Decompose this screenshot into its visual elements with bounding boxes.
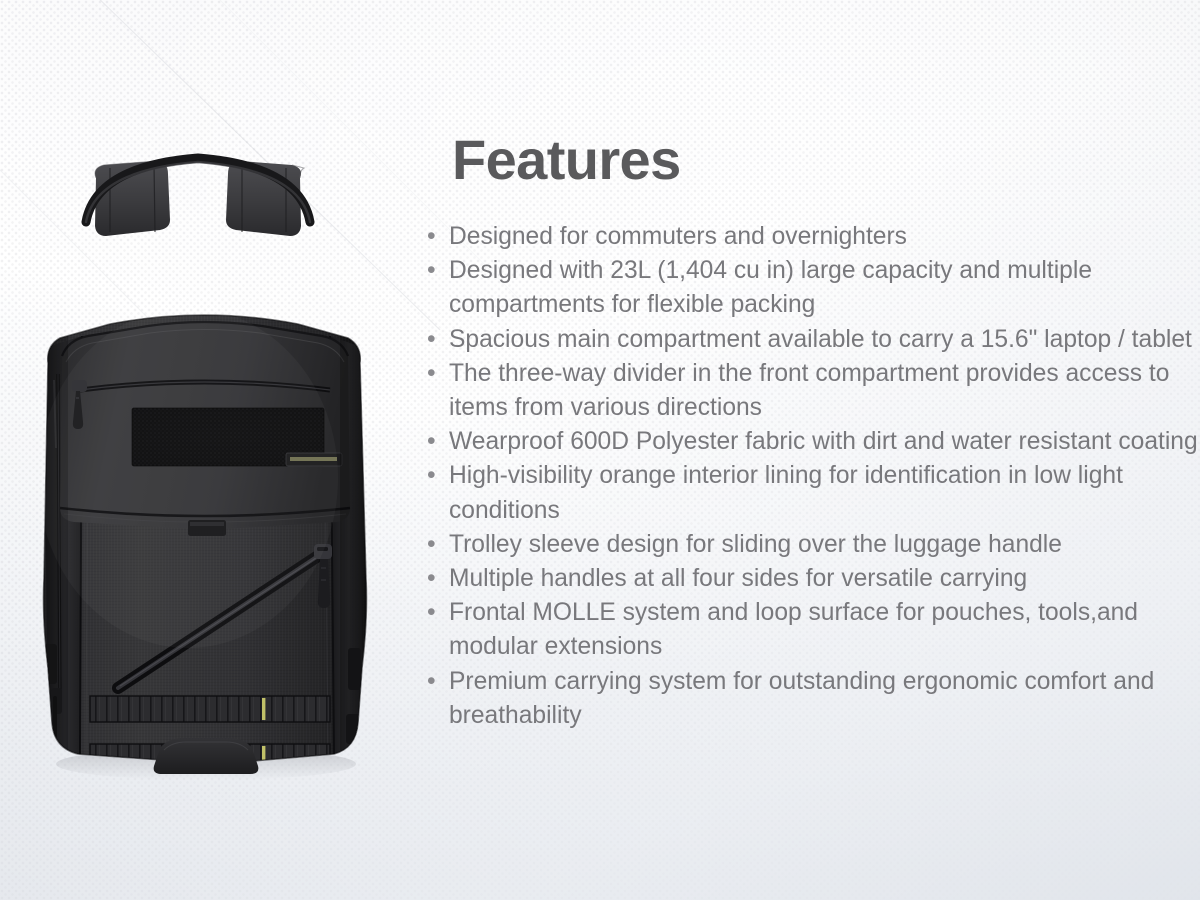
feature-text: Trolley sleeve design for sliding over t…	[449, 528, 1200, 562]
feature-item-10: • Premium carrying system for outstandin…	[424, 665, 1200, 733]
feature-item-4: • The three-way divider in the front com…	[424, 357, 1200, 425]
feature-item-2: • Designed with 23L (1,404 cu in) large …	[424, 254, 1200, 322]
feature-item-8: • Multiple handles at all four sides for…	[424, 562, 1200, 596]
feature-text: Premium carrying system for outstanding …	[449, 665, 1200, 733]
feature-text: Spacious main compartment available to c…	[449, 323, 1200, 357]
bullet-glyph: •	[427, 357, 436, 391]
slide-canvas: Features • Designed for commuters and ov…	[0, 0, 1200, 900]
bullet-glyph: •	[427, 323, 436, 357]
bullet-glyph: •	[427, 254, 436, 288]
bullet-glyph: •	[427, 459, 436, 493]
bullet-glyph: •	[427, 562, 436, 596]
backpack-body	[18, 298, 390, 780]
product-image-backpack	[18, 148, 390, 780]
feature-item-7: • Trolley sleeve design for sliding over…	[424, 528, 1200, 562]
page-title: Features	[452, 131, 681, 188]
bullet-glyph: •	[427, 425, 436, 459]
feature-text: The three-way divider in the front compa…	[449, 357, 1200, 425]
feature-item-1: • Designed for commuters and overnighter…	[424, 220, 1200, 254]
feature-item-9: • Frontal MOLLE system and loop surface …	[424, 596, 1200, 664]
feature-text: Wearproof 600D Polyester fabric with dir…	[449, 425, 1200, 459]
feature-item-6: • High-visibility orange interior lining…	[424, 459, 1200, 527]
bullet-glyph: •	[427, 220, 436, 254]
bottom-carry-handle	[154, 738, 259, 774]
feature-text: Designed with 23L (1,404 cu in) large ca…	[449, 254, 1200, 322]
feature-text: Designed for commuters and overnighters	[449, 220, 1200, 254]
feature-text: Multiple handles at all four sides for v…	[449, 562, 1200, 596]
feature-text: High-visibility orange interior lining f…	[449, 459, 1200, 527]
feature-item-3: • Spacious main compartment available to…	[424, 323, 1200, 357]
bullet-glyph: •	[427, 596, 436, 630]
feature-item-5: • Wearproof 600D Polyester fabric with d…	[424, 425, 1200, 459]
bullet-glyph: •	[427, 528, 436, 562]
features-list: • Designed for commuters and overnighter…	[424, 220, 1200, 733]
bullet-glyph: •	[427, 665, 436, 699]
backpack-illustration	[18, 148, 390, 780]
feature-text: Frontal MOLLE system and loop surface fo…	[449, 596, 1200, 664]
